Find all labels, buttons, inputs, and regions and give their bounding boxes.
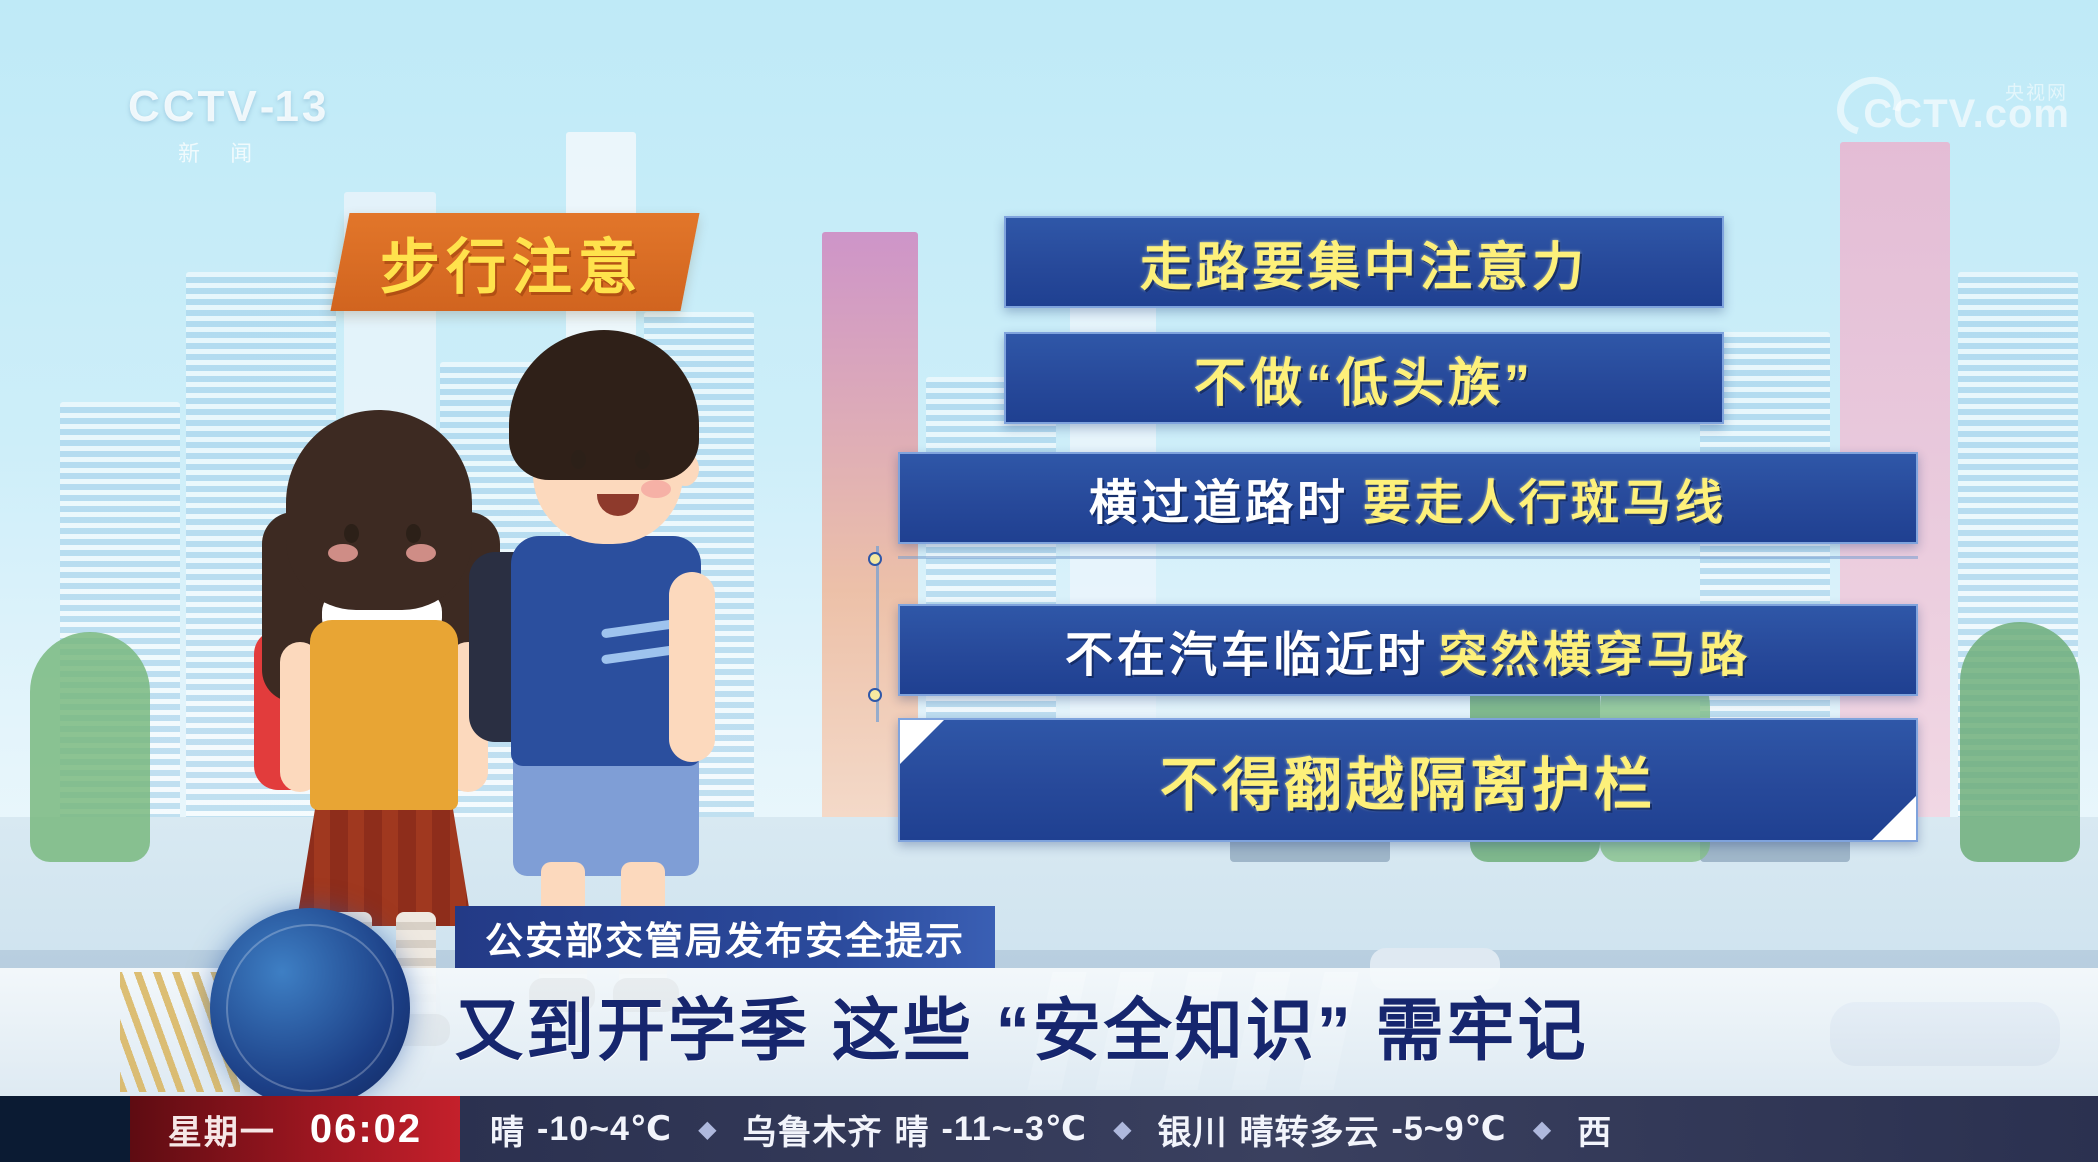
girl-eye-left (344, 524, 359, 543)
ticker-left-cap (0, 1096, 130, 1162)
tip-3-text-white: 横过道路时 (1089, 463, 1349, 533)
watermark-brand: CCTV.com (1863, 92, 2070, 137)
boy-hair (509, 330, 699, 480)
ticker-weather-strip: 晴 -10~4℃ ◆ 乌鲁木齐 晴 -11~-3℃ ◆ 银川 晴转多云 -5~9… (460, 1096, 2098, 1162)
channel-logo: CCTV-13 (128, 82, 329, 132)
weather-cond-2: 晴转多云 (1240, 1105, 1380, 1154)
tip-box-1: 走路要集中注意力 (1004, 216, 1724, 308)
connector-dot (868, 552, 882, 566)
ticker-separator: ◆ (698, 1115, 716, 1144)
weather-temp-1: -11~-3℃ (942, 1109, 1088, 1149)
tip-2-text: 不做“低头族” (1194, 341, 1534, 416)
weather-item: 乌鲁木齐 晴 -11~-3℃ (743, 1105, 1088, 1154)
channel-logo-number: 13 (274, 82, 329, 131)
ticker-clock: 06:02 (310, 1107, 422, 1152)
weather-temp-2: -5~9℃ (1392, 1109, 1507, 1149)
weather-city-3: 西 (1577, 1105, 1612, 1154)
tip-box-4: 不在汽车临近时 突然横穿马路 (898, 604, 1918, 696)
girl-eye-right (406, 524, 421, 543)
boy-shorts (513, 748, 699, 876)
news-ticker: 星期一 06:02 晴 -10~4℃ ◆ 乌鲁木齐 晴 -11~-3℃ ◆ 银川… (0, 1096, 2098, 1162)
tip-box-2: 不做“低头族” (1004, 332, 1724, 424)
boy-arm (669, 572, 715, 762)
broadcast-screen: CCTV-13 新 闻 央视网 CCTV.com 步行注意 走路要集中注意力 不… (0, 0, 2098, 1162)
tip-box-5: 不得翻越隔离护栏 (898, 718, 1918, 842)
ticker-weekday: 星期一 (168, 1105, 276, 1154)
channel-logo-text: CCTV (128, 82, 260, 131)
connector-dot (868, 688, 882, 702)
girl-vest (310, 620, 458, 810)
connector-line-horizontal (898, 556, 1918, 559)
girl-cheek-left (328, 544, 358, 562)
tip-3-text-yellow: 要走人行斑马线 (1363, 463, 1727, 533)
weather-item: 银川 晴转多云 -5~9℃ (1158, 1105, 1507, 1154)
lower-third: 公安部交管局发布安全提示 又到开学季 这些 “安全知识” 需牢记 (0, 884, 2098, 1096)
tree (30, 632, 150, 862)
tip-box-3: 横过道路时 要走人行斑马线 (898, 452, 1918, 544)
channel-logo-subtitle: 新 闻 (178, 136, 264, 168)
channel-logo-dash: - (260, 82, 275, 131)
boy-cheek (641, 480, 671, 498)
tip-1-text: 走路要集中注意力 (1140, 225, 1588, 300)
weather-city-1: 乌鲁木齐 (743, 1105, 883, 1154)
lower-third-kicker: 公安部交管局发布安全提示 (455, 906, 995, 968)
tree (1960, 622, 2080, 862)
section-banner: 步行注意 (330, 213, 699, 311)
boy-eye-right (635, 450, 650, 469)
girl-hair-top (286, 410, 472, 610)
section-banner-label: 步行注意 (380, 219, 644, 306)
weather-city-2: 银川 (1158, 1105, 1228, 1154)
globe-icon (210, 908, 410, 1108)
weather-cond-1: 晴 (895, 1105, 930, 1154)
corner-notch-bottomright-icon (1872, 796, 1916, 840)
weather-item: 西 (1577, 1105, 1612, 1154)
lower-third-headline: 又到开学季 这些 “安全知识” 需牢记 (455, 975, 1589, 1074)
tip-5-text: 不得翻越隔离护栏 (1160, 738, 1656, 822)
tip-4-text-yellow: 突然横穿马路 (1439, 615, 1751, 685)
corner-notch-topleft-icon (900, 720, 944, 764)
weather-cond-0: 晴 (490, 1105, 525, 1154)
weather-temp-0: -10~4℃ (537, 1109, 672, 1149)
boy-eye-left (571, 450, 586, 469)
ticker-separator: ◆ (1533, 1115, 1551, 1144)
girl-cheek-right (406, 544, 436, 562)
weather-item: 晴 -10~4℃ (478, 1105, 672, 1154)
ticker-time-block: 星期一 06:02 (130, 1096, 460, 1162)
tip-4-text-white: 不在汽车临近时 (1065, 615, 1429, 685)
lower-third-kicker-label: 公安部交管局发布安全提示 (485, 910, 965, 965)
ticker-separator: ◆ (1113, 1115, 1131, 1144)
